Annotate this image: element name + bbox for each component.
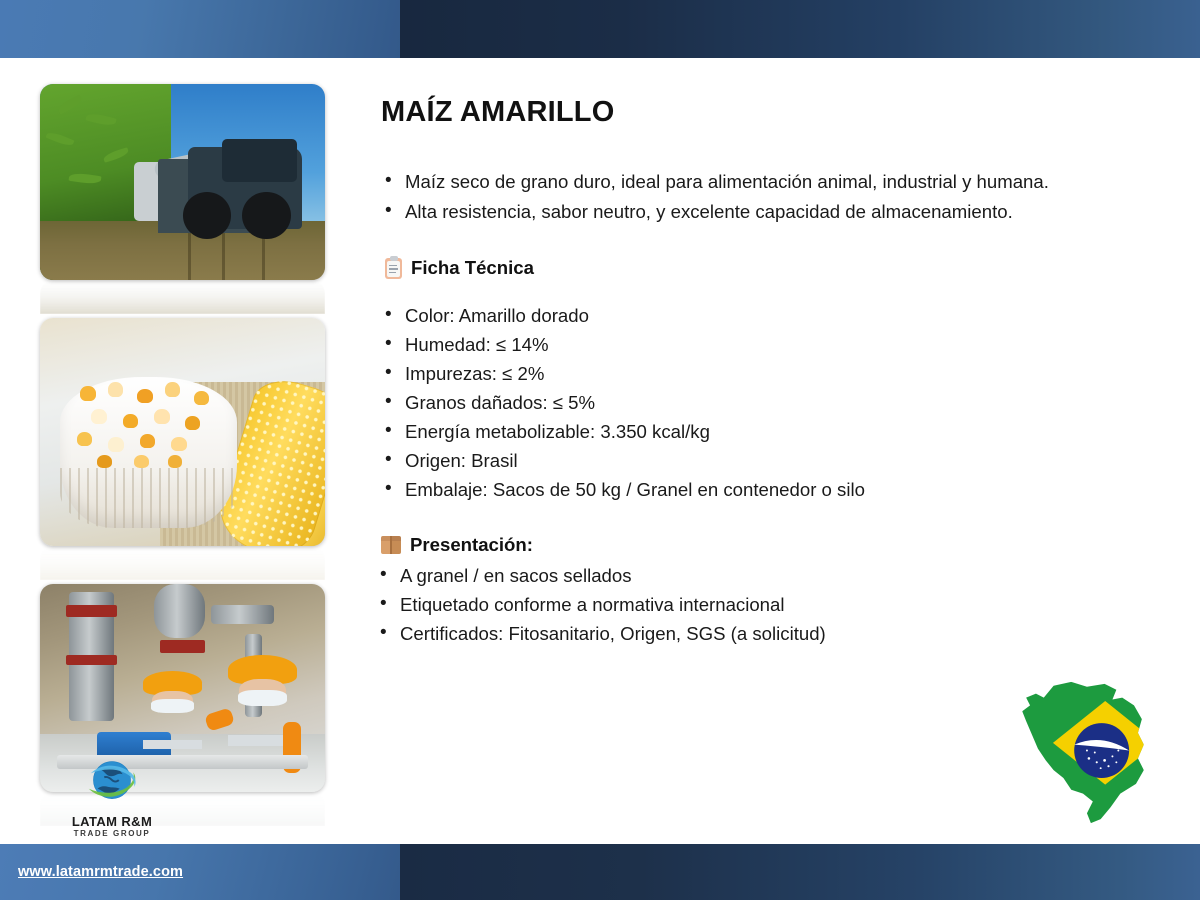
list-item: Color: Amarillo dorado: [375, 301, 1165, 330]
brazil-map-flag-icon: [1010, 676, 1158, 828]
photo-item: [40, 84, 325, 314]
content-column: MAÍZ AMARILLO Maíz seco de grano duro, i…: [375, 96, 1165, 648]
globe-icon: [83, 754, 141, 812]
photo-reflection: [40, 546, 325, 580]
ficha-tecnica-label: Ficha Técnica: [411, 257, 534, 279]
list-item: Certificados: Fitosanitario, Origen, SGS…: [375, 619, 1165, 648]
footer-website-link[interactable]: www.latamrmtrade.com: [18, 864, 183, 880]
company-logo: LATAM R&M TRADE GROUP: [48, 754, 176, 838]
list-item: Origen: Brasil: [375, 446, 1165, 475]
photo-item: [40, 318, 325, 580]
ficha-tecnica-heading: Ficha Técnica: [385, 257, 1165, 279]
presentacion-heading: Presentación:: [381, 534, 1165, 556]
list-item: Granos dañados: ≤ 5%: [375, 388, 1165, 417]
logo-name: LATAM R&M: [48, 815, 176, 829]
list-item: A granel / en sacos sellados: [375, 561, 1165, 590]
top-banner: [0, 0, 1200, 58]
clipboard-icon: [385, 258, 402, 279]
list-item: Etiquetado conforme a normativa internac…: [375, 590, 1165, 619]
list-item: Embalaje: Sacos de 50 kg / Granel en con…: [375, 475, 1165, 504]
list-item: Energía metabolizable: 3.350 kcal/kg: [375, 417, 1165, 446]
page-title: MAÍZ AMARILLO: [381, 96, 1165, 129]
presentacion-list: A granel / en sacos sellados Etiquetado …: [375, 561, 1165, 648]
package-icon: [381, 536, 401, 554]
photo-reflection: [40, 280, 325, 314]
ficha-tecnica-list: Color: Amarillo dorado Humedad: ≤ 14% Im…: [375, 301, 1165, 504]
list-item: Alta resistencia, sabor neutro, y excele…: [375, 197, 1165, 227]
intro-bullet-list: Maíz seco de grano duro, ideal para alim…: [375, 167, 1165, 227]
list-item: Humedad: ≤ 14%: [375, 330, 1165, 359]
corn-harvest-photo: [40, 84, 325, 280]
corn-kernels-bowl-photo: [40, 318, 325, 546]
presentacion-label: Presentación:: [410, 534, 533, 556]
list-item: Maíz seco de grano duro, ideal para alim…: [375, 167, 1165, 197]
slide-root: MAÍZ AMARILLO Maíz seco de grano duro, i…: [0, 0, 1200, 900]
photo-column: [40, 84, 325, 830]
bottom-banner-right-segment: [400, 844, 1200, 900]
list-item: Impurezas: ≤ 2%: [375, 359, 1165, 388]
top-banner-left-segment: [0, 0, 400, 58]
top-banner-right-segment: [400, 0, 1200, 58]
logo-tagline: TRADE GROUP: [48, 829, 176, 838]
bottom-banner: www.latamrmtrade.com: [0, 844, 1200, 900]
